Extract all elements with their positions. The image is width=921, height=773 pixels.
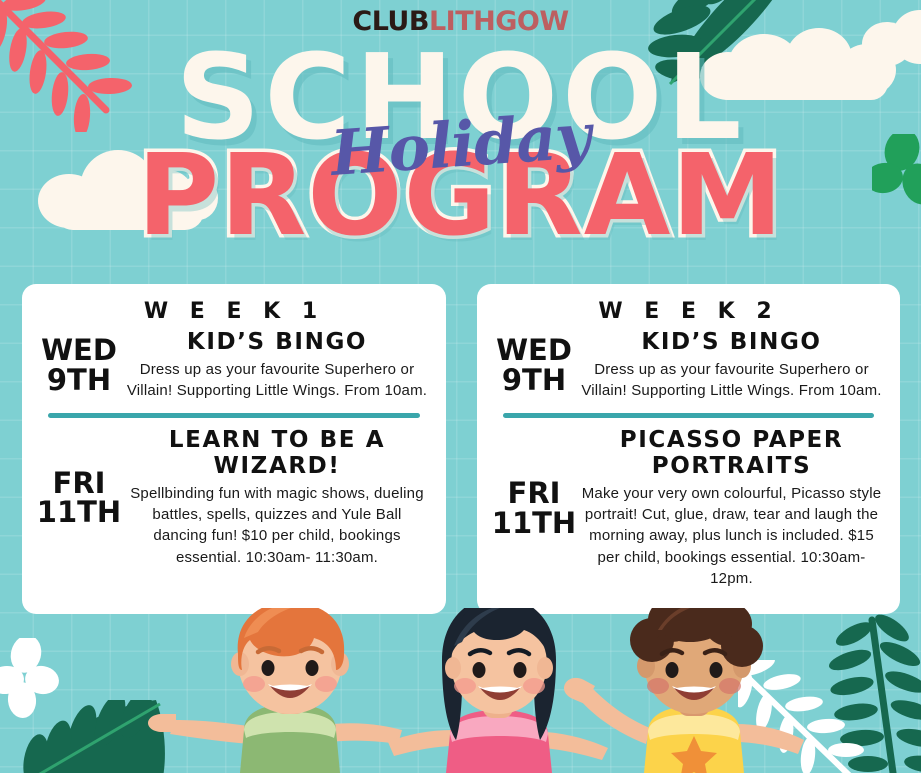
week-2-divider: [503, 413, 874, 418]
event-title: LEARN TO BE A WIZARD!: [124, 428, 430, 480]
week-2-event-2-date: FRI 11TH: [491, 479, 577, 538]
week-1-event-2-date: FRI 11TH: [36, 469, 122, 528]
week-1-divider: [48, 413, 420, 418]
week-1-event-2: FRI 11TH LEARN TO BE A WIZARD! Spellbind…: [22, 428, 446, 568]
poster-canvas: CLUBLITHGOW SCHOOL PROGRAM Holiday W E E…: [0, 0, 921, 773]
day-label: FRI: [491, 479, 577, 509]
event-title: KID’S BINGO: [579, 330, 884, 356]
week-2-event-2: FRI 11TH PICASSO PAPER PORTRAITS Make yo…: [477, 428, 900, 589]
kids-illustration: [0, 608, 921, 773]
week-1-event-1-body: KID’S BINGO Dress up as your favourite S…: [122, 330, 432, 401]
week-1-heading: W E E K 1: [22, 284, 446, 324]
week-1-card: W E E K 1 WED 9TH KID’S BINGO Dress up a…: [22, 284, 446, 614]
week-2-event-1: WED 9TH KID’S BINGO Dress up as your fav…: [477, 330, 900, 401]
program-cards: W E E K 1 WED 9TH KID’S BINGO Dress up a…: [0, 284, 921, 614]
event-description: Spellbinding fun with magic shows, dueli…: [124, 483, 430, 568]
date-label: 11TH: [491, 509, 577, 539]
logo-club-text: CLUB: [352, 6, 429, 37]
week-2-heading: W E E K 2: [477, 284, 900, 324]
date-label: 9TH: [491, 366, 577, 396]
event-description: Make your very own colourful, Picasso st…: [579, 483, 884, 589]
week-2-event-1-body: KID’S BINGO Dress up as your favourite S…: [577, 330, 886, 401]
week-1-event-1: WED 9TH KID’S BINGO Dress up as your fav…: [22, 330, 446, 401]
boy-brown-hair-yellow-star-shirt: [540, 608, 840, 773]
day-label: FRI: [36, 469, 122, 499]
brand-logo: CLUBLITHGOW: [0, 6, 921, 37]
logo-lithgow-text: LITHGOW: [429, 6, 569, 37]
day-label: WED: [36, 336, 122, 366]
event-title: KID’S BINGO: [124, 330, 430, 356]
event-description: Dress up as your favourite Superhero or …: [579, 359, 884, 402]
event-title: PICASSO PAPER PORTRAITS: [579, 428, 884, 480]
week-1-event-2-body: LEARN TO BE A WIZARD! Spellbinding fun w…: [122, 428, 432, 568]
date-label: 9TH: [36, 366, 122, 396]
week-2-event-1-date: WED 9TH: [491, 336, 577, 395]
event-description: Dress up as your favourite Superhero or …: [124, 359, 430, 402]
week-2-card: W E E K 2 WED 9TH KID’S BINGO Dress up a…: [477, 284, 900, 614]
week-1-event-1-date: WED 9TH: [36, 336, 122, 395]
date-label: 11TH: [36, 498, 122, 528]
week-2-event-2-body: PICASSO PAPER PORTRAITS Make your very o…: [577, 428, 886, 589]
day-label: WED: [491, 336, 577, 366]
